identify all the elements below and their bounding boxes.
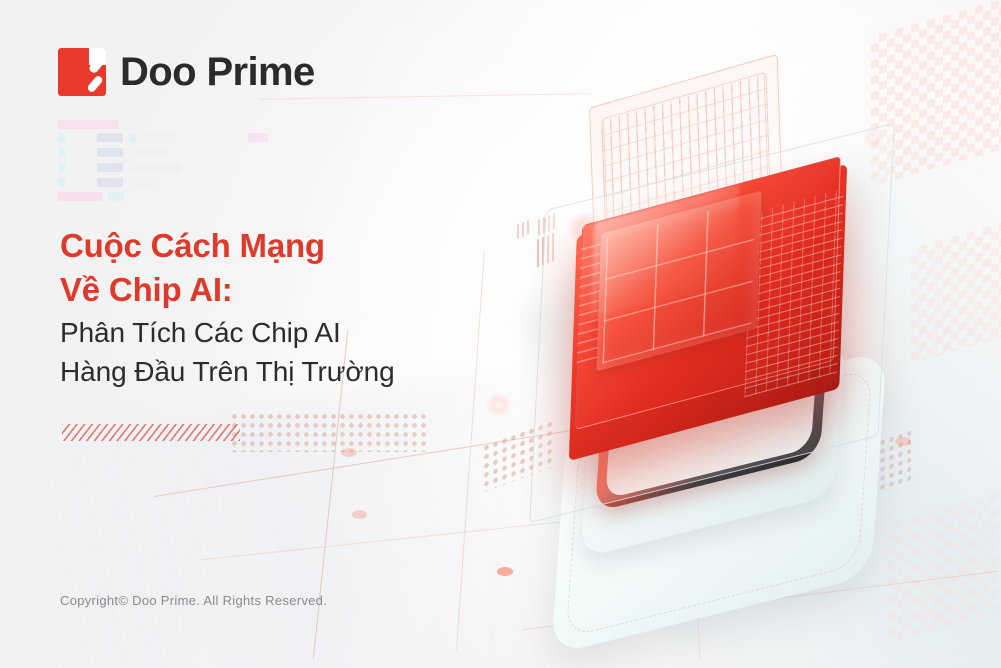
subheadline: Phân Tích Các Chip AI Hàng Đầu Trên Thị … [60, 314, 395, 391]
doo-prime-logo-icon [58, 48, 106, 96]
dot-grid-left [230, 412, 430, 452]
ai-chip-artwork [450, 55, 990, 615]
brand-name: Doo Prime [120, 50, 315, 95]
headline-line-2: Về Chip AI: [60, 268, 325, 312]
brand-logo[interactable]: Doo Prime [58, 48, 315, 96]
headline-line-1: Cuộc Cách Mạng [60, 224, 325, 268]
subheadline-line-2: Hàng Đầu Trên Thị Trường [60, 353, 395, 392]
headline: Cuộc Cách Mạng Về Chip AI: [60, 224, 325, 312]
decorative-glyph-block [58, 120, 328, 198]
banner-root: Doo Prime Cuộc Cách Mạng Về Chip AI: Phâ… [0, 0, 1001, 668]
subheadline-line-1: Phân Tích Các Chip AI [60, 314, 395, 353]
hatch-bar-accent [62, 424, 240, 441]
network-node-2 [352, 510, 367, 519]
copyright-notice: Copyright© Doo Prime. All Rights Reserve… [60, 593, 327, 608]
